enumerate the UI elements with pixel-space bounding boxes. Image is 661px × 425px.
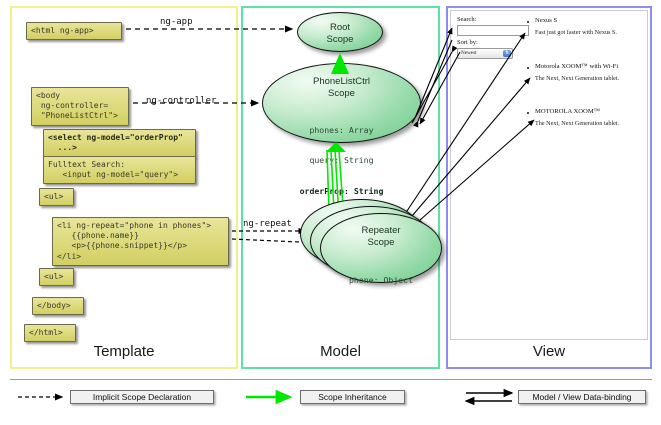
chevron-updown-icon[interactable]: ⇅ [503,50,511,57]
scope-phonelistctrl-title: PhoneListCtrl Scope [263,76,420,99]
code-ul-close: <ul> [39,268,74,286]
phone-snippet: The Next, Next Generation tablet. [535,75,619,82]
scope-phonelistctrl: PhoneListCtrl Scope phones: Array query:… [262,63,421,143]
legend-scope-inheritance: Scope Inheritance [300,390,405,404]
scope-repeater-title: Repeater Scope [321,225,441,248]
list-item: Motorola XOOM™ with Wi-Fi The Next, Next… [535,63,619,82]
scope-prop-phones: phones: Array [263,125,420,135]
sort-select-value: Newest [461,50,477,56]
list-item: MOTOROLA XOOM™ The Next, Next Generation… [535,108,619,127]
legend-divider [10,379,652,380]
column-label-template: Template [10,343,238,360]
code-ul-open: <ul> [39,188,74,206]
phone-snippet: The Next, Next Generation tablet. [535,120,619,127]
edge-label-ng-controller: ng-controller [146,96,216,106]
scope-prop-phone: phone: Object [321,275,441,285]
code-fulltext-search: Fulltext Search: <input ng-model="query"… [43,156,196,184]
legend-model-view-data-binding: Model / View Data-binding [518,390,646,404]
code-html-close: </html> [24,324,76,342]
view-search-label: Search: [457,16,477,23]
angularjs-architecture-diagram: <html ng-app> <body ng-controller= "Phon… [0,0,661,425]
view-browser-pane: Search: Sort by: Newest ⇅ Nexus S Fast j… [450,10,648,340]
phone-name: Nexus S [535,17,617,24]
column-label-view: View [446,343,652,360]
code-li-ng-repeat: <li ng-repeat="phone in phones"> {{phone… [52,217,229,266]
edge-label-ng-app: ng-app [160,17,193,27]
code-body-close: </body> [32,297,84,315]
scope-repeater: Repeater Scope phone: Object [320,213,442,283]
code-html-open: <html ng-app> [26,22,122,40]
column-label-model: Model [241,343,440,360]
scope-prop-query: query: String [263,155,420,165]
list-item: Nexus S Fast just got faster with Nexus … [535,17,617,36]
legend-glyph-double-arrow [466,393,512,401]
legend-implicit-scope-declaration: Implicit Scope Declaration [70,390,214,404]
phone-name: Motorola XOOM™ with Wi-Fi [535,63,619,70]
search-input[interactable] [457,25,529,36]
list-bullet [527,21,529,23]
scope-root-title: Root Scope [298,22,382,45]
code-body-open: <body ng-controller= "PhoneListCtrl"> [31,87,129,126]
phone-snippet: Fast just got faster with Nexus S. [535,29,617,36]
phone-name: MOTOROLA XOOM™ [535,108,619,115]
edge-label-ng-repeat: ng-repeat [243,219,292,229]
list-bullet [527,67,529,69]
scope-root: Root Scope [297,12,383,52]
sort-select[interactable]: Newest ⇅ [457,48,513,59]
code-select: <select ng-model="orderProp" ...> [43,129,196,157]
list-bullet [527,112,529,114]
view-sort-label: Sort by: [457,39,478,46]
scope-prop-orderprop: orderProp: String [263,186,420,196]
